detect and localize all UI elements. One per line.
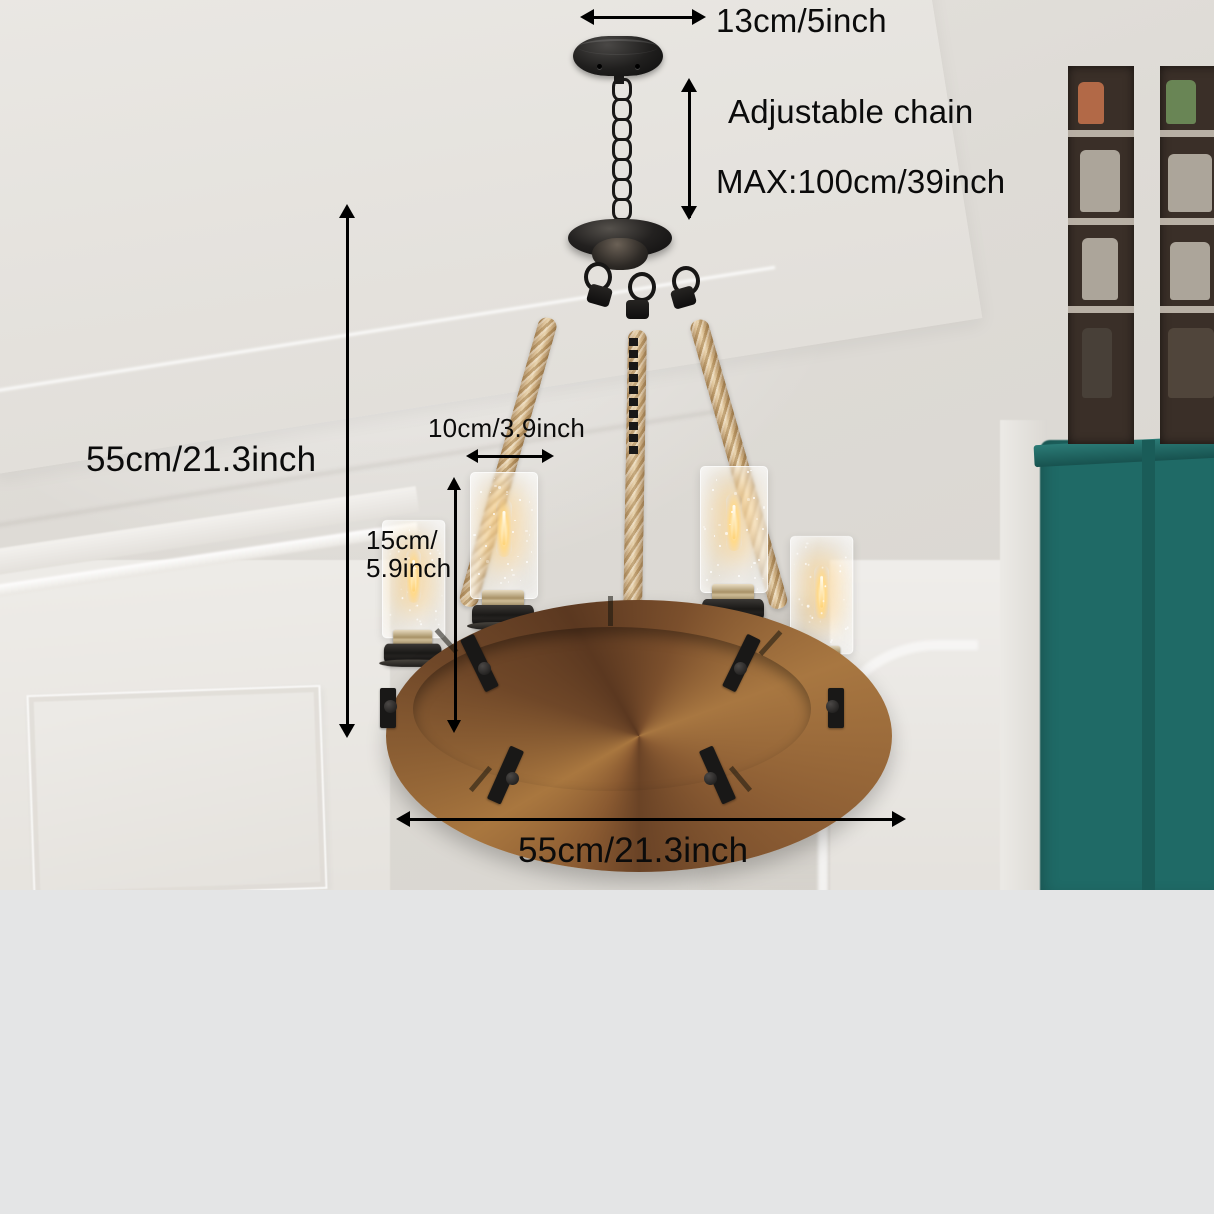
glass-seed-bubble (809, 576, 811, 578)
glass-seed-bubble (489, 526, 491, 528)
glass-seed-bubble (526, 540, 528, 542)
glass-seed-bubble (806, 542, 808, 544)
glass-seed-bubble (498, 486, 500, 488)
arrow-head-up (447, 477, 461, 490)
arrow-head-left (580, 9, 594, 25)
glass-seed-bubble (494, 478, 495, 479)
glass-seed-bubble (839, 565, 841, 567)
dim-label-chain-max: MAX:100cm/39inch (716, 163, 1005, 201)
glass-seed-bubble (531, 509, 533, 511)
wheel-bolt (384, 700, 397, 713)
chain-link (612, 198, 632, 221)
glass-seed-bubble (762, 578, 763, 579)
product-spec-image: 13cm/5inch Adjustable chain MAX:100cm/39… (0, 0, 1214, 1214)
arrow-head-down (339, 724, 355, 738)
glass-seed-bubble (747, 471, 748, 472)
dim-label-adjustable-chain: Adjustable chain (728, 93, 973, 131)
glass-seed-bubble (508, 581, 509, 582)
glass-seed-bubble (718, 524, 721, 527)
dim-label-canopy-width: 13cm/5inch (716, 2, 887, 40)
glass-seed-bubble (719, 575, 720, 576)
dim-line-overall-width (404, 818, 898, 821)
ring-segment-joint (608, 596, 613, 626)
glass-seed-bubble (750, 470, 751, 471)
glass-seed-bubble (725, 532, 728, 535)
glass-seed-bubble (441, 595, 442, 596)
glass-seed-bubble (753, 562, 756, 565)
dim-line-overall-height (346, 215, 349, 733)
center-drop-chain-upper (629, 336, 638, 456)
dim-label-shade-width: 10cm/3.9inch (428, 413, 585, 444)
glass-seed-bubble (751, 566, 753, 568)
glass-seed-bubble (706, 579, 708, 581)
glass-seed-bubble (525, 530, 527, 532)
seeded-glass-shade (700, 466, 768, 593)
dim-label-overall-height: 55cm/21.3inch (86, 440, 316, 480)
glass-seed-bubble (490, 492, 491, 493)
glass-seed-bubble (520, 500, 521, 501)
rope-eyelet-center (628, 272, 656, 302)
wheel-bolt (826, 700, 839, 713)
glass-seed-bubble (529, 501, 531, 503)
glass-seed-bubble (512, 574, 514, 576)
glass-seed-bubble (845, 556, 847, 558)
bulb-glow (496, 499, 512, 557)
glass-seed-bubble (514, 520, 516, 522)
glass-seed-bubble (714, 535, 716, 537)
glass-seed-bubble (486, 560, 488, 562)
glass-seed-bubble (763, 506, 765, 508)
glass-seed-bubble (846, 627, 848, 629)
dim-line-shade-height (454, 487, 457, 727)
dim-line-canopy-width (586, 16, 698, 19)
arrow-head-up (339, 204, 355, 218)
glass-seed-bubble (531, 551, 532, 552)
glass-seed-bubble (480, 558, 482, 560)
product-parameters-panel: PRODUCT PARAMETERS Material: Metal and W… (0, 890, 1214, 1214)
dim-line-shade-width (472, 455, 548, 458)
glass-seed-bubble (500, 582, 502, 584)
glass-seed-bubble (717, 564, 719, 566)
glass-seed-bubble (747, 498, 750, 501)
arrow-head-up (681, 78, 697, 92)
glass-seed-bubble (511, 569, 513, 571)
glass-seed-bubble (797, 553, 799, 555)
arrow-head-left (466, 449, 478, 463)
wheel-bolt (478, 662, 491, 675)
glass-seed-bubble (494, 485, 496, 487)
glass-seed-bubble (507, 563, 509, 565)
glass-seed-bubble (400, 589, 401, 590)
dim-label-shade-height-2: 5.9inch (366, 553, 451, 584)
glass-seed-bubble (807, 564, 809, 566)
rope-cap-left (586, 283, 613, 308)
glass-seed-bubble (716, 479, 718, 481)
glass-seed-bubble (734, 492, 737, 495)
glass-seed-bubble (506, 491, 508, 493)
glass-seed-bubble (843, 599, 844, 600)
glass-seed-bubble (756, 518, 758, 520)
arrow-head-right (892, 811, 906, 827)
dim-line-chain (688, 88, 691, 218)
seeded-glass-shade (470, 472, 538, 599)
glass-seed-bubble (477, 508, 478, 509)
bulb-glow (726, 493, 742, 551)
wheel-bolt (506, 772, 519, 785)
wheel-bolt (734, 662, 747, 675)
glass-seed-bubble (473, 534, 476, 537)
glass-seed-bubble (520, 580, 521, 581)
canopy-screw-left (597, 64, 602, 69)
arrow-head-right (692, 9, 706, 25)
arrow-head-left (396, 811, 410, 827)
bulb-filament (503, 511, 506, 545)
arrow-head-down (681, 206, 697, 220)
glass-seed-bubble (805, 546, 807, 548)
dim-label-overall-width: 55cm/21.3inch (518, 831, 748, 871)
glass-seed-bubble (754, 577, 756, 579)
rope-cap-center (626, 300, 649, 319)
glass-seed-bubble (529, 534, 531, 536)
dim-label-shade-height-1: 15cm/ (366, 525, 438, 556)
glass-seed-bubble (794, 564, 795, 565)
glass-seed-bubble (506, 494, 507, 495)
wheel-bolt (704, 772, 717, 785)
glass-seed-bubble (517, 556, 518, 557)
bulb-filament (733, 505, 736, 539)
glass-seed-bubble (704, 528, 706, 530)
glass-seed-bubble (762, 528, 764, 530)
glass-seed-bubble (757, 588, 759, 590)
arrow-head-down (447, 720, 461, 733)
canopy-screw-right (635, 64, 640, 69)
arrow-head-right (542, 449, 554, 463)
room-photo: 13cm/5inch Adjustable chain MAX:100cm/39… (0, 0, 1214, 890)
canopy-ribbing (578, 39, 658, 55)
glass-seed-bubble (711, 508, 714, 511)
